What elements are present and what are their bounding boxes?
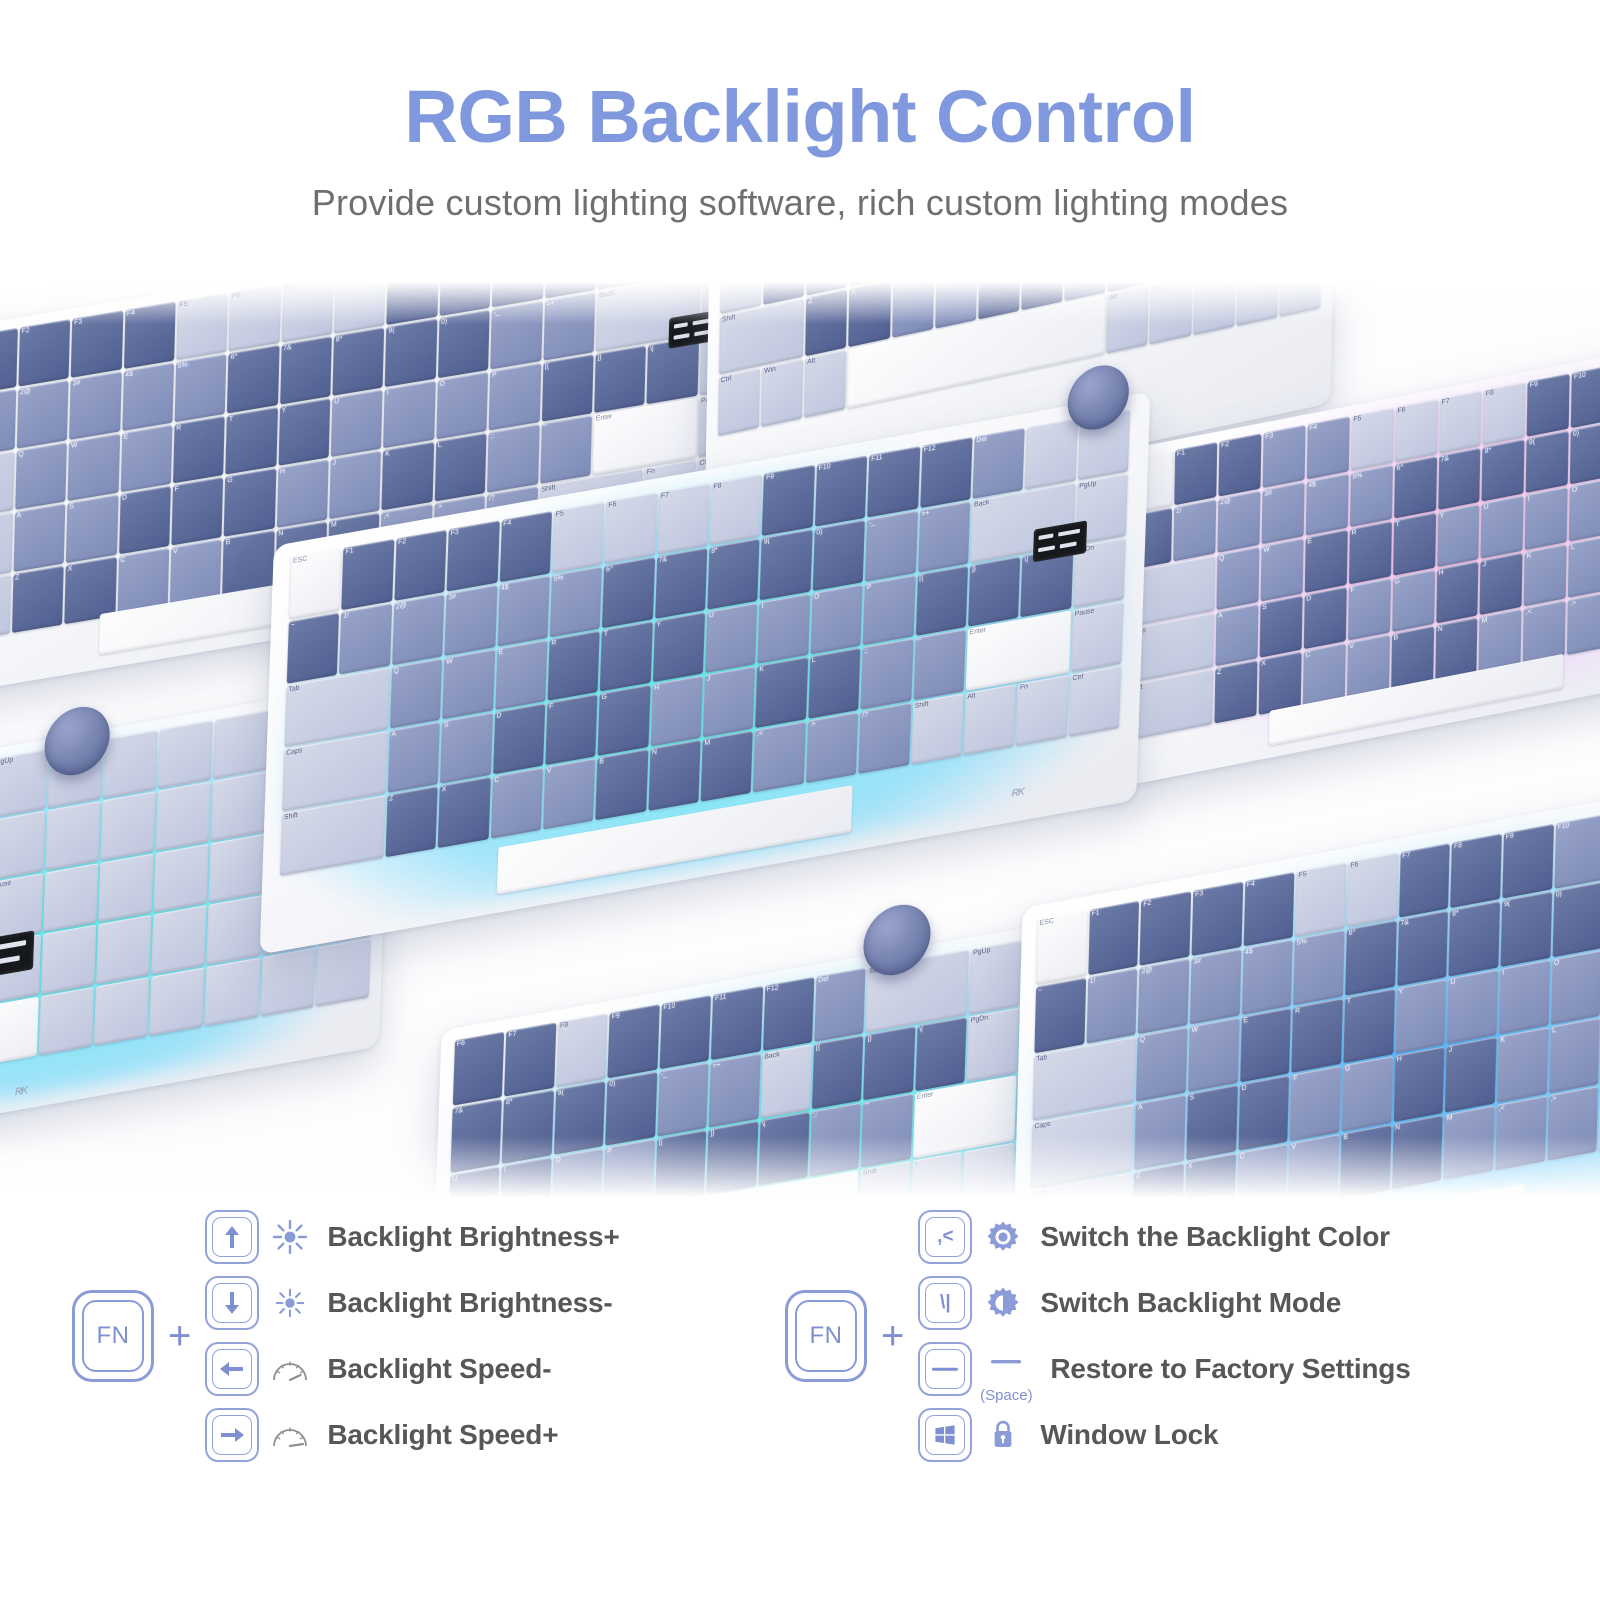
keycap-windows[interactable]	[918, 1408, 972, 1462]
arrow-down-icon	[221, 1289, 243, 1317]
shortcut-row-restore-factory: (Space) Restore to Factory Settings	[918, 1342, 1410, 1396]
shortcut-label: Backlight Brightness-	[327, 1287, 612, 1319]
gauge-slow-icon	[267, 1355, 313, 1383]
keycap-arrow-right[interactable]	[205, 1408, 259, 1462]
windows-icon	[933, 1423, 957, 1447]
lock-icon	[980, 1418, 1026, 1452]
color-wheel-icon	[980, 1220, 1026, 1254]
fn-group-left: FN +	[72, 1290, 205, 1382]
keycap-backslash[interactable]: \|	[918, 1276, 972, 1330]
plus-symbol-right: +	[881, 1316, 904, 1356]
shortcut-row-speed-up: Backlight Speed+	[205, 1408, 619, 1462]
space-dash-icon	[930, 1365, 960, 1373]
mode-half-sun-icon	[980, 1286, 1026, 1320]
comma-less-than-label: ,<	[937, 1226, 953, 1248]
shortcut-label: Switch Backlight Mode	[1040, 1287, 1341, 1319]
arrow-right-icon	[217, 1424, 247, 1446]
fn-key-left[interactable]: FN	[72, 1290, 154, 1382]
page-subtitle: Provide custom lighting software, rich c…	[0, 182, 1600, 224]
shortcut-label: Switch the Backlight Color	[1040, 1221, 1390, 1253]
shortcut-row-speed-down: Backlight Speed-	[205, 1342, 619, 1396]
shortcut-label: Backlight Brightness+	[327, 1221, 619, 1253]
space-dash-icon-legend: (Space)	[976, 1357, 1036, 1381]
arrow-up-icon	[221, 1223, 243, 1251]
infographic-page: RGB Backlight Control Provide custom lig…	[0, 0, 1600, 1600]
sun-bright-icon	[267, 1219, 313, 1255]
fn-key-label: FN	[810, 1322, 843, 1350]
keycap-arrow-down[interactable]	[205, 1276, 259, 1330]
backslash-pipe-label: \|	[940, 1292, 951, 1314]
sun-dim-icon	[267, 1286, 313, 1320]
shortcut-row-window-lock: Window Lock	[918, 1408, 1410, 1462]
keycap-arrow-up[interactable]	[205, 1210, 259, 1264]
keycap-arrow-left[interactable]	[205, 1342, 259, 1396]
spacebar	[1198, 1183, 1524, 1206]
shortcut-label: Backlight Speed+	[327, 1419, 558, 1451]
product-photo-collage: ESCF1F2F3F4F5F6F7F8F9F10F11F12Del ~1!2@3…	[0, 278, 1600, 1206]
fn-group-right: FN +	[785, 1290, 918, 1382]
shortcut-legend: FN +	[0, 1210, 1600, 1540]
plus-symbol-left: +	[168, 1316, 191, 1356]
left-shortcut-column: FN +	[72, 1210, 620, 1462]
right-shortcut-column: FN + ,< Switc	[785, 1210, 1411, 1462]
gauge-fast-icon	[267, 1421, 313, 1449]
bottom-right-keyboard: ESCF1F2F3F4F5F6F7F8F9F10F11F12 ~1!2@3#4$…	[1011, 759, 1600, 1206]
shortcut-row-switch-color: ,< Switch the Backlight Color	[918, 1210, 1410, 1264]
shortcut-row-brightness-up: Backlight Brightness+	[205, 1210, 619, 1264]
shortcut-label: Backlight Speed-	[327, 1353, 551, 1385]
shortcut-row-switch-mode: \| Switch Backlight Mode	[918, 1276, 1410, 1330]
space-sublabel: (Space)	[980, 1387, 1033, 1404]
brand-logo: RK	[15, 1085, 28, 1098]
page-title: RGB Backlight Control	[0, 78, 1600, 156]
fn-key-right[interactable]: FN	[785, 1290, 867, 1382]
brand-logo: RK	[1011, 786, 1024, 799]
shortcut-label: Window Lock	[1040, 1419, 1218, 1451]
keycap-space[interactable]	[918, 1342, 972, 1396]
shortcut-label: Restore to Factory Settings	[1050, 1353, 1410, 1385]
fn-key-label: FN	[97, 1322, 130, 1350]
header: RGB Backlight Control Provide custom lig…	[0, 0, 1600, 224]
keycap-comma[interactable]: ,<	[918, 1210, 972, 1264]
arrow-left-icon	[217, 1358, 247, 1380]
key-grid: ESCF1F2F3F4F5F6F7F8F9F10F11F12 ~1!2@3#4$…	[1029, 776, 1600, 1206]
shortcut-row-brightness-down: Backlight Brightness-	[205, 1276, 619, 1330]
